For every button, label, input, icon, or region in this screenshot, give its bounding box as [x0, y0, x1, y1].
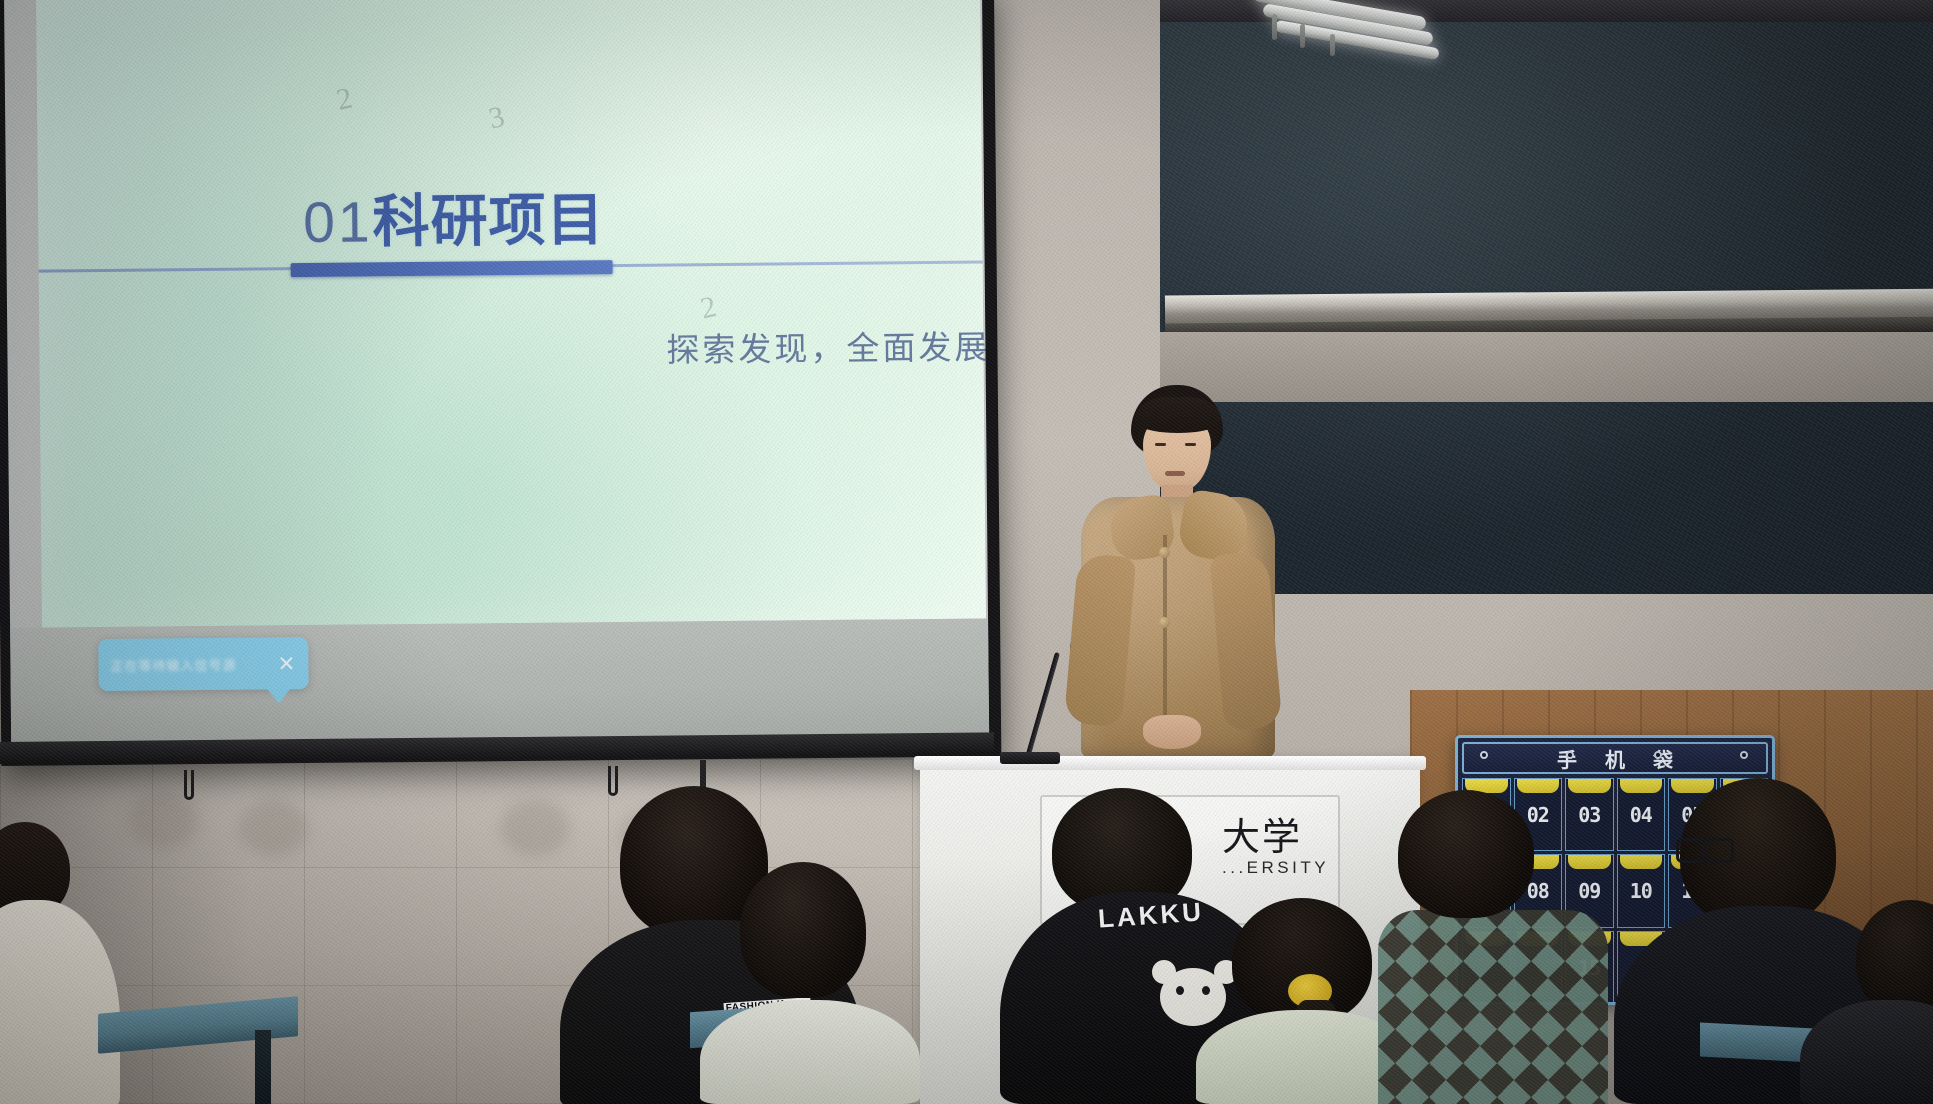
bear-ear-icon: [1152, 960, 1176, 984]
close-icon[interactable]: [276, 653, 296, 673]
presenter: [1065, 385, 1285, 765]
classroom-photo-scene: 2 3 2 01科研项目 探索发现，全面发展 正在等待输入信号源: [0, 0, 1933, 1104]
audience-head: [1398, 790, 1534, 918]
board-eyelet: [1740, 751, 1748, 759]
phone-board-header: 手机袋: [1462, 742, 1768, 774]
wall-smudge: [128, 792, 198, 848]
presenter-hands: [1143, 715, 1201, 749]
presenter-mouth: [1165, 471, 1185, 476]
phone-board-title: 手机袋: [1529, 744, 1701, 773]
phone-pocket-flap: [1671, 779, 1714, 793]
presenter-jacket-button: [1159, 617, 1170, 628]
phone-pocket-flap: [1620, 779, 1663, 793]
presenter-eye: [1155, 443, 1166, 446]
projection-screen: 2 3 2 01科研项目 探索发现，全面发展 正在等待输入信号源: [0, 0, 1001, 766]
slide-subtitle: 探索发现，全面发展: [666, 320, 989, 371]
phone-pocket-number: 09: [1566, 879, 1613, 903]
screen-hook: [184, 770, 194, 800]
presenter-eye: [1185, 443, 1196, 446]
eyeglasses-icon: [1676, 838, 1734, 858]
phone-pocket-flap: [1620, 855, 1663, 869]
toast-pointer: [266, 687, 292, 703]
toast-message: 正在等待输入信号源: [110, 654, 276, 675]
screen-hook: [608, 766, 618, 796]
microphone-base: [1000, 752, 1060, 764]
board-eyelet: [1480, 751, 1488, 759]
wall-smudge: [238, 800, 308, 856]
light-hook: [1272, 14, 1277, 40]
phone-pocket-number: 03: [1566, 803, 1613, 827]
audience-head: [740, 862, 866, 998]
slide-title-number: 01: [303, 190, 373, 255]
light-hook: [1300, 24, 1305, 48]
projector-glow: [36, 0, 986, 628]
presenter-jacket-button: [1159, 547, 1170, 558]
board-eyelet: [1566, 751, 1574, 759]
signal-toast[interactable]: 正在等待输入信号源: [98, 637, 308, 691]
phone-pocket-number: 04: [1618, 803, 1665, 827]
audience-body: [700, 1000, 920, 1104]
phone-pocket[interactable]: 04: [1617, 778, 1666, 851]
presentation-slide: 2 3 2 01科研项目 探索发现，全面发展: [36, 0, 986, 628]
bear-eye-icon: [1202, 986, 1210, 995]
phone-pocket-number: 10: [1618, 879, 1665, 903]
presenter-jacket-placket: [1163, 535, 1167, 741]
wall-smudge: [500, 800, 570, 856]
presenter-fringe: [1135, 397, 1221, 433]
podium-university-name-cn: 大学: [1222, 806, 1302, 861]
phone-pocket-flap: [1568, 779, 1611, 793]
phone-pocket[interactable]: 10: [1617, 854, 1666, 927]
bear-eye-icon: [1176, 986, 1184, 995]
phone-pocket-flap: [1517, 779, 1560, 793]
podium-top-surface: [914, 756, 1426, 770]
slide-title: 01科研项目: [303, 174, 605, 259]
light-hook: [1330, 34, 1335, 56]
phone-pocket[interactable]: 03: [1565, 778, 1614, 851]
board-eyelet: [1654, 751, 1662, 759]
slide-title-text: 科研项目: [372, 188, 605, 254]
desk-leg: [255, 1030, 271, 1104]
phone-pocket-flap: [1568, 855, 1611, 869]
audience-patterned-jacket: [1378, 910, 1608, 1104]
podium-university-name-en: ...ERSITY: [1222, 858, 1329, 878]
projection-screen-surface: 2 3 2 01科研项目 探索发现，全面发展 正在等待输入信号源: [4, 0, 989, 744]
